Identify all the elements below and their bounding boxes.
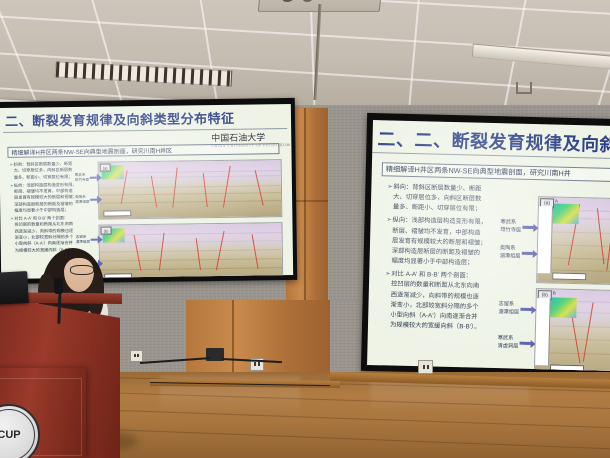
seismic-section-figure-b: (b) B B' [534, 288, 610, 371]
figure-pointer-arrow [522, 252, 533, 255]
slide-subtitle-box-left: 精细解译H井区两条NW-SE向典型地震剖面，研究川南H井区 [7, 143, 279, 158]
slide-section-number: 二、 [377, 129, 414, 150]
bullet-item: ➢ 对比 A-A' 和 B-B' 两个剖面： 控凹层的数量和断距从北东向南 西逐… [390, 270, 493, 334]
seismic-section-figure-a: (a) [98, 159, 283, 220]
figure-pointer-arrow [90, 177, 97, 179]
figure-pointer-arrow [91, 239, 98, 241]
figure-b-left-label: 志留系 湄潭组层 [76, 235, 91, 245]
slide-title-left: 二、断裂发育规律及向斜类型分布特征 [5, 108, 235, 130]
slide-bullets-right: ➢ 斜向：背斜区断层数量少、断距 大、切穿层位多，向斜区断层数 量多、断距小、切… [390, 183, 496, 337]
figure-a-left-label: 奥陶系 湄潭组层 [75, 195, 90, 205]
figure-a-left-label: 奥陶系 湄潭组层 [500, 245, 521, 261]
slide-section-number: 二、 [5, 114, 32, 129]
figure-a-left-label: 寒武系 筇竹寺层 [75, 173, 90, 183]
slide-subtitle-text: 精细解译H井区两条NW-SE向典型地震剖面，研究川南H井 [386, 164, 571, 179]
ceiling-hook [516, 82, 532, 94]
conference-room-photo: 二、断裂发育规律及向斜类型分布特征 中国石油大学 CHINA UNIVERSIT… [0, 0, 610, 458]
section-endpoint-label: B [553, 290, 556, 295]
bullet-item: ➢ 斜向：背斜区断层数量少、断距 大、切穿层位多，向斜区断层数 量多、断距小、切… [393, 183, 496, 216]
seismic-section-figure-a: (a) A A' [536, 196, 610, 285]
figure-depth-axis [537, 206, 553, 273]
figure-scalebar [550, 364, 584, 371]
figure-a-left-label: 寒武系 筇竹寺层 [500, 219, 521, 235]
figure-pointer-arrow [520, 308, 531, 311]
slide-title-text: 断裂发育规律及向斜类型分布特征 [32, 111, 235, 129]
section-endpoint-label: A [555, 199, 558, 204]
figure-pointer-arrow [90, 199, 97, 201]
figure-b-left-label: 志留系 湄潭组层 [498, 301, 519, 317]
bullet-marker: ➢ [10, 183, 14, 189]
wood-panel-seam [232, 300, 234, 382]
slide-subtitle-box-right: 精细解译H井区两条NW-SE向典型地震剖面，研究川南H井 [382, 162, 610, 182]
bullet-item: ➢ 纵向：浅部构造层构造变形有限， 断层、褶皱均不发育，中部构造 层发育有规模较… [391, 216, 494, 269]
figure-tag-b: (b) [100, 226, 111, 234]
right-projection-screen: 二、二、断裂发育规律及向斜类型分布特 精细解译H井区两条NW-SE向典型地震剖面… [361, 113, 610, 377]
slide-subtitle-text: 精细解译H井区两条NW-SE向典型地震剖面，研究川南H井区 [11, 146, 172, 157]
ceiling [0, 0, 610, 115]
laptop[interactable] [0, 271, 29, 305]
seal-text: CUP [0, 406, 38, 458]
bullet-marker: ➢ [387, 182, 393, 192]
figure-b-left-label: 寒武系 清虚洞层 [497, 335, 518, 351]
bullet-marker: ➢ [386, 216, 392, 226]
bullet-marker: ➢ [10, 216, 14, 222]
figure-pointer-arrow [522, 226, 533, 229]
wall-power-outlet[interactable] [418, 360, 433, 374]
bullet-marker: ➢ [385, 270, 391, 280]
figure-pointer-arrow [520, 342, 531, 345]
right-slide-surface: 二、二、断裂发育规律及向斜类型分布特 精细解译H井区两条NW-SE向典型地震剖面… [367, 120, 610, 371]
wall-power-outlet[interactable] [130, 350, 143, 362]
bullet-marker: ➢ [10, 162, 14, 168]
institution-seal: CUP [0, 404, 40, 458]
figure-scalebar [552, 272, 586, 280]
presenter-glasses [70, 265, 94, 275]
velocity-inset [550, 297, 576, 318]
velocity-inset [553, 203, 579, 224]
figure-tag-a: (a) [100, 163, 111, 171]
microphone[interactable] [54, 278, 63, 294]
figure-scalebar [103, 210, 131, 216]
figure-depth-axis [535, 298, 551, 365]
